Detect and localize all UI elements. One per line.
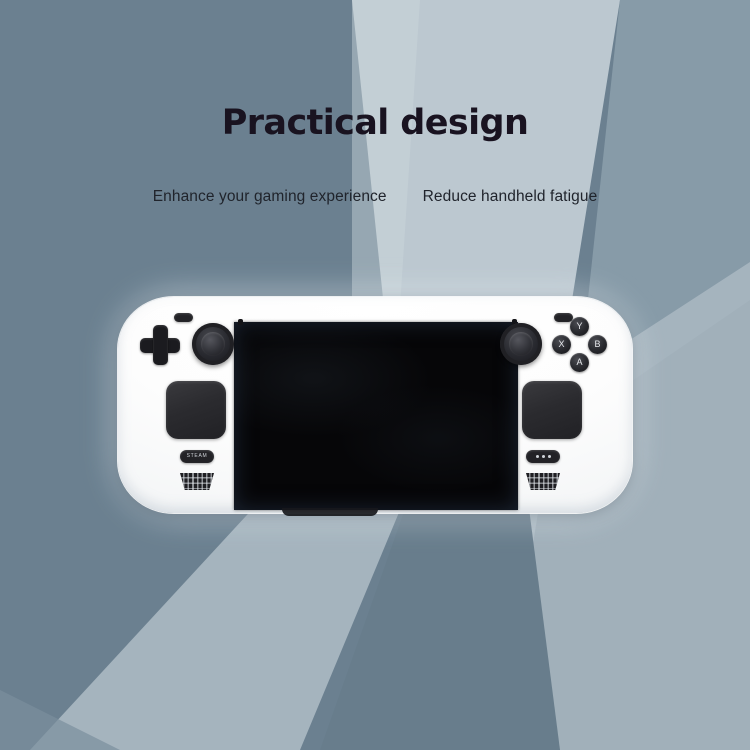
left-thumbstick[interactable] [192, 323, 234, 365]
right-speaker-grille [526, 473, 560, 490]
subtitle-enhance-gaming: Enhance your gaming experience [153, 188, 387, 206]
page-title: Practical design [0, 104, 750, 143]
subtitle-reduce-fatigue: Reduce handheld fatigue [423, 188, 598, 206]
d-pad[interactable] [140, 325, 180, 365]
d-pad-vertical-arm [153, 325, 168, 365]
button-b[interactable]: B [588, 335, 607, 354]
right-speaker-slots [526, 473, 560, 490]
console-screen [234, 322, 518, 510]
button-y[interactable]: Y [570, 317, 589, 336]
view-button[interactable] [174, 313, 193, 322]
subtitle-row: Enhance your gaming experience Reduce ha… [0, 188, 750, 206]
left-speaker-grille [180, 473, 214, 490]
screen-bottom-lip [282, 508, 378, 516]
quick-access-dot [542, 455, 545, 458]
button-x[interactable]: X [552, 335, 571, 354]
right-trackpad[interactable] [522, 381, 582, 439]
headline-container: Practical design [0, 104, 750, 143]
console-shell: STEAM Y X B A [118, 297, 632, 513]
handheld-console-image: STEAM Y X B A [112, 288, 638, 520]
left-speaker-slots [180, 473, 214, 490]
button-a[interactable]: A [570, 353, 589, 372]
quick-access-button[interactable] [526, 450, 560, 463]
face-button-cluster: Y X B A [550, 317, 608, 373]
steam-button[interactable]: STEAM [180, 450, 214, 463]
left-trackpad[interactable] [166, 381, 226, 439]
product-banner: Practical design Enhance your gaming exp… [0, 0, 750, 750]
quick-access-dot [536, 455, 539, 458]
screen-bezel-tab-left [238, 319, 243, 325]
steam-button-label: STEAM [187, 454, 208, 459]
quick-access-dot [548, 455, 551, 458]
right-thumbstick[interactable] [500, 323, 542, 365]
